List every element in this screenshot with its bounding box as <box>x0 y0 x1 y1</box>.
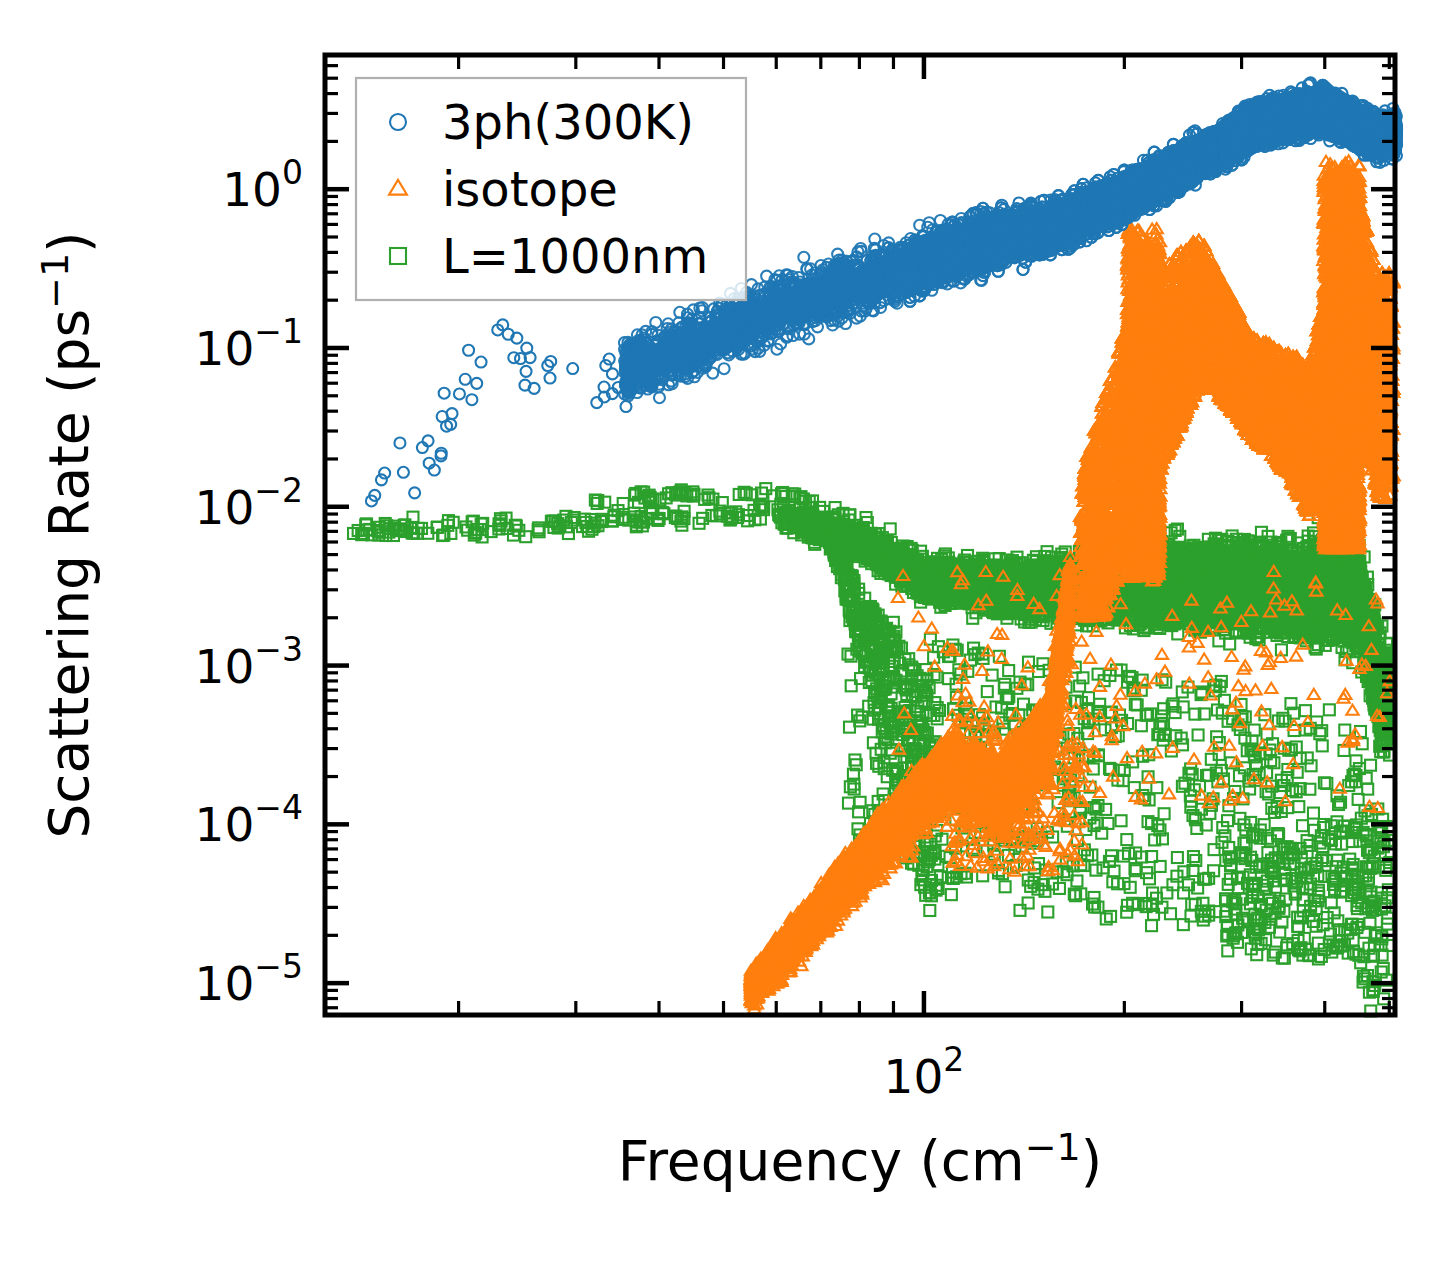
plot-canvas: 10010−110−210−310−410−5102 3ph(300K)isot… <box>0 0 1455 1265</box>
x-tick-exponent: 2 <box>943 1040 964 1079</box>
y-tick-mantissa: 10 <box>195 956 255 1011</box>
y-tick-label: 10−2 <box>195 471 303 535</box>
y-axis-title-exponent: −1 <box>33 253 77 309</box>
x-tick-mantissa: 10 <box>884 1049 944 1104</box>
y-tick-exponent: −2 <box>254 471 303 510</box>
scatter-plot-figure: 10010−110−210−310−410−5102 3ph(300K)isot… <box>0 0 1455 1265</box>
y-tick-label: 10−5 <box>195 947 303 1011</box>
y-tick-mantissa: 10 <box>195 480 255 535</box>
x-axis-title-main: Frequency (cm <box>618 1129 1025 1193</box>
y-tick-label: 100 <box>222 153 303 217</box>
y-tick-label: 10−3 <box>195 630 303 694</box>
x-tick-label: 102 <box>884 1040 965 1104</box>
y-axis-title: Scattering Rate (ps−1) <box>33 231 101 838</box>
y-tick-exponent: −5 <box>254 947 303 986</box>
y-tick-exponent: −1 <box>254 312 303 351</box>
y-tick-mantissa: 10 <box>222 162 282 217</box>
y-tick-mantissa: 10 <box>195 321 255 376</box>
legend-label: 3ph(300K) <box>442 94 694 150</box>
y-tick-label: 10−1 <box>195 312 303 376</box>
y-axis-title-main: Scattering Rate (ps <box>37 309 101 839</box>
y-tick-exponent: 0 <box>282 153 303 192</box>
x-axis-title-exponent: −1 <box>1025 1125 1081 1169</box>
data-point-group <box>348 483 1395 1016</box>
y-tick-label: 10−4 <box>195 788 303 852</box>
y-axis-title-tail: ) <box>37 231 101 252</box>
y-tick-exponent: −4 <box>254 788 303 827</box>
legend-label: isotope <box>442 161 618 217</box>
legend-label: L=1000nm <box>442 228 708 284</box>
plot-legend: 3ph(300K)isotopeL=1000nm <box>356 78 746 300</box>
y-tick-mantissa: 10 <box>195 639 255 694</box>
x-axis-title: Frequency (cm−1) <box>618 1125 1102 1193</box>
y-tick-mantissa: 10 <box>195 797 255 852</box>
y-tick-exponent: −3 <box>254 630 303 669</box>
x-axis-title-tail: ) <box>1081 1129 1102 1193</box>
